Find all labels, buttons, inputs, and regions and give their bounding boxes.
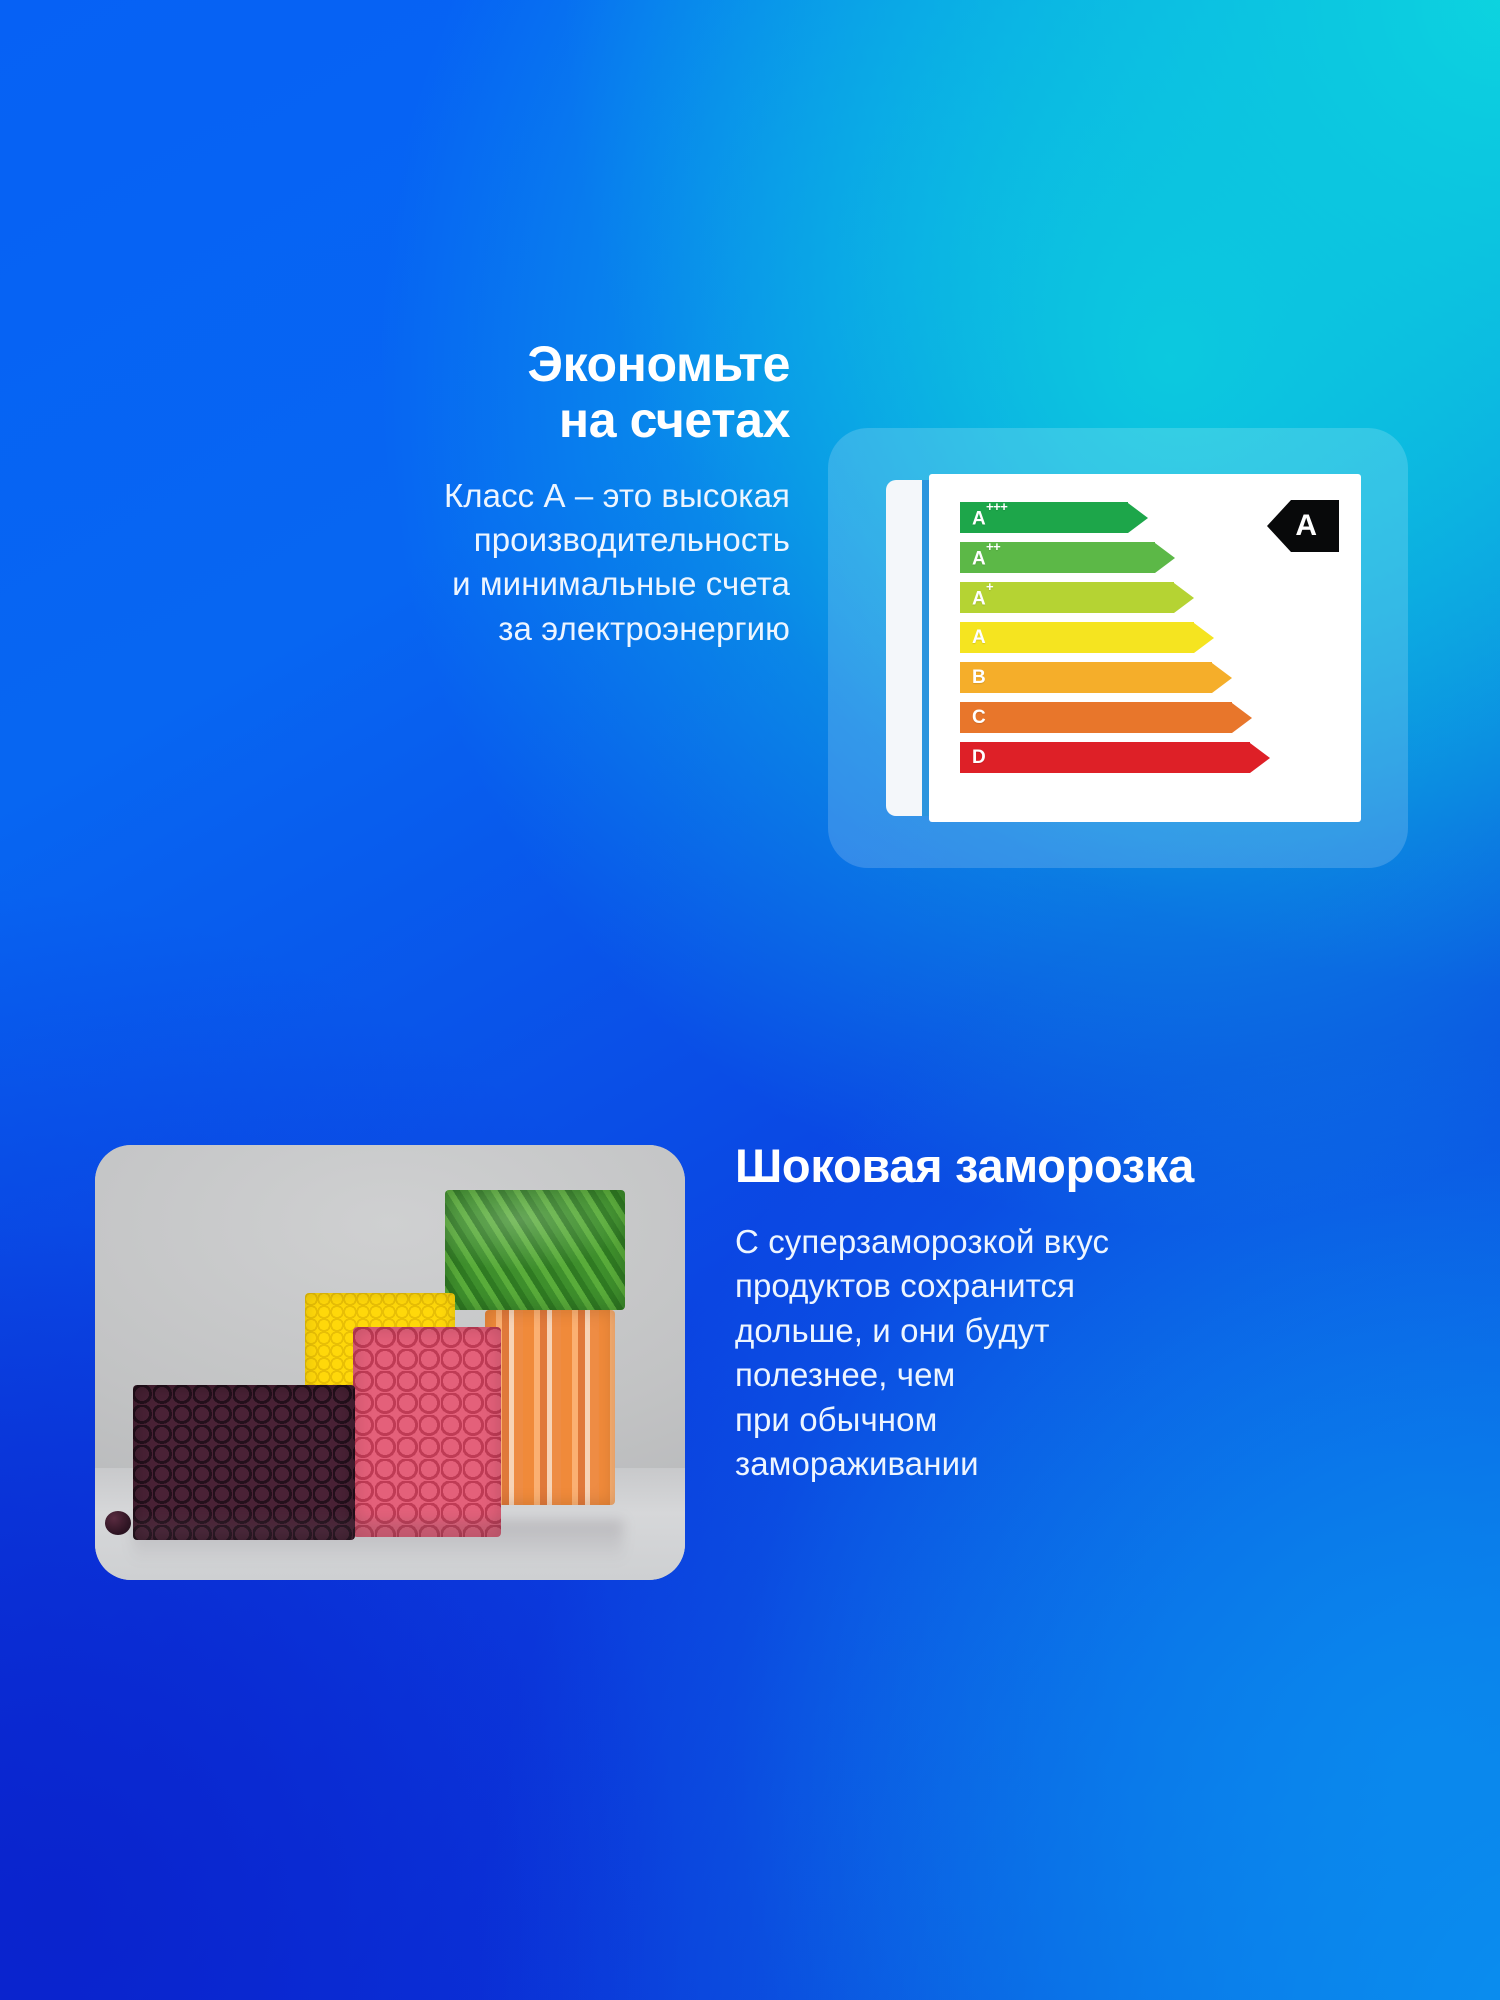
bar-body: D bbox=[960, 742, 1250, 773]
energy-class-bar-a+++: A+++ bbox=[960, 502, 1270, 533]
energy-class-bar-a++: A++ bbox=[960, 542, 1270, 573]
energy-class-bar-c: C bbox=[960, 702, 1270, 733]
raspberries-block bbox=[353, 1327, 501, 1537]
bar-arrow-tip bbox=[1232, 703, 1252, 733]
bar-label: A+++ bbox=[972, 506, 1007, 528]
bar-label: B bbox=[972, 668, 986, 687]
class-badge-body: A bbox=[1291, 500, 1339, 552]
energy-class-bar-list: A+++A++A+ABCD bbox=[960, 502, 1270, 782]
bar-arrow-tip bbox=[1174, 583, 1194, 613]
bar-label: C bbox=[972, 708, 986, 727]
green-beans-block bbox=[445, 1190, 625, 1310]
bar-arrow-tip bbox=[1212, 663, 1232, 693]
carrot-strips-block bbox=[485, 1310, 615, 1505]
bar-body: B bbox=[960, 662, 1212, 693]
energy-label-card: A+++A++A+ABCD A bbox=[828, 428, 1408, 868]
economy-body-text: Класс А – это высокая производительность… bbox=[180, 474, 790, 651]
bar-shape: C bbox=[960, 702, 1270, 733]
bar-arrow-tip bbox=[1128, 503, 1148, 533]
bar-body: A++ bbox=[960, 542, 1155, 573]
section-economy: Экономьте на счетах Класс А – это высока… bbox=[0, 318, 1500, 878]
frost-overlay bbox=[445, 1190, 625, 1310]
economy-title: Экономьте на счетах bbox=[180, 336, 790, 448]
freeze-title: Шоковая заморозка bbox=[735, 1140, 1435, 1192]
bar-arrow-tip bbox=[1155, 543, 1175, 573]
section-shock-freeze: Шоковая заморозка С суперзаморозкой вкус… bbox=[0, 1140, 1500, 1700]
energy-class-bar-d: D bbox=[960, 742, 1270, 773]
energy-class-bar-a+: A+ bbox=[960, 582, 1270, 613]
freeze-text-block: Шоковая заморозка С суперзаморозкой вкус… bbox=[735, 1140, 1435, 1487]
bar-shape: B bbox=[960, 662, 1270, 693]
bar-label: D bbox=[972, 748, 986, 767]
photo-scene bbox=[95, 1145, 685, 1580]
bar-body: A+ bbox=[960, 582, 1174, 613]
bar-body: C bbox=[960, 702, 1232, 733]
bar-label: A bbox=[972, 628, 986, 647]
bar-arrow-tip bbox=[1250, 743, 1270, 773]
bar-shape: D bbox=[960, 742, 1270, 773]
selected-class-badge: A bbox=[1267, 500, 1339, 552]
label-spine bbox=[922, 480, 929, 816]
frozen-food-photo bbox=[95, 1145, 685, 1580]
bar-shape: A+++ bbox=[960, 502, 1270, 533]
bar-shape: A++ bbox=[960, 542, 1270, 573]
bar-shape: A+ bbox=[960, 582, 1270, 613]
bar-label: A++ bbox=[972, 546, 1000, 568]
blackberries-block bbox=[133, 1385, 355, 1540]
stray-berry bbox=[105, 1511, 131, 1535]
energy-class-bar-b: B bbox=[960, 662, 1270, 693]
economy-text-block: Экономьте на счетах Класс А – это высока… bbox=[180, 336, 790, 651]
bar-arrow-tip bbox=[1194, 623, 1214, 653]
class-badge-letter: A bbox=[1295, 511, 1317, 541]
bar-body: A bbox=[960, 622, 1194, 653]
bar-body: A+++ bbox=[960, 502, 1128, 533]
energy-efficiency-label: A+++A++A+ABCD A bbox=[929, 474, 1361, 822]
freeze-body-text: С суперзаморозкой вкус продуктов сохрани… bbox=[735, 1220, 1435, 1487]
energy-class-bar-a: A bbox=[960, 622, 1270, 653]
photo-reflection bbox=[133, 1520, 623, 1562]
bar-label: A+ bbox=[972, 586, 993, 608]
background-gradient-sheen bbox=[0, 0, 1500, 2000]
class-badge-arrow-icon bbox=[1267, 500, 1291, 552]
bar-shape: A bbox=[960, 622, 1270, 653]
